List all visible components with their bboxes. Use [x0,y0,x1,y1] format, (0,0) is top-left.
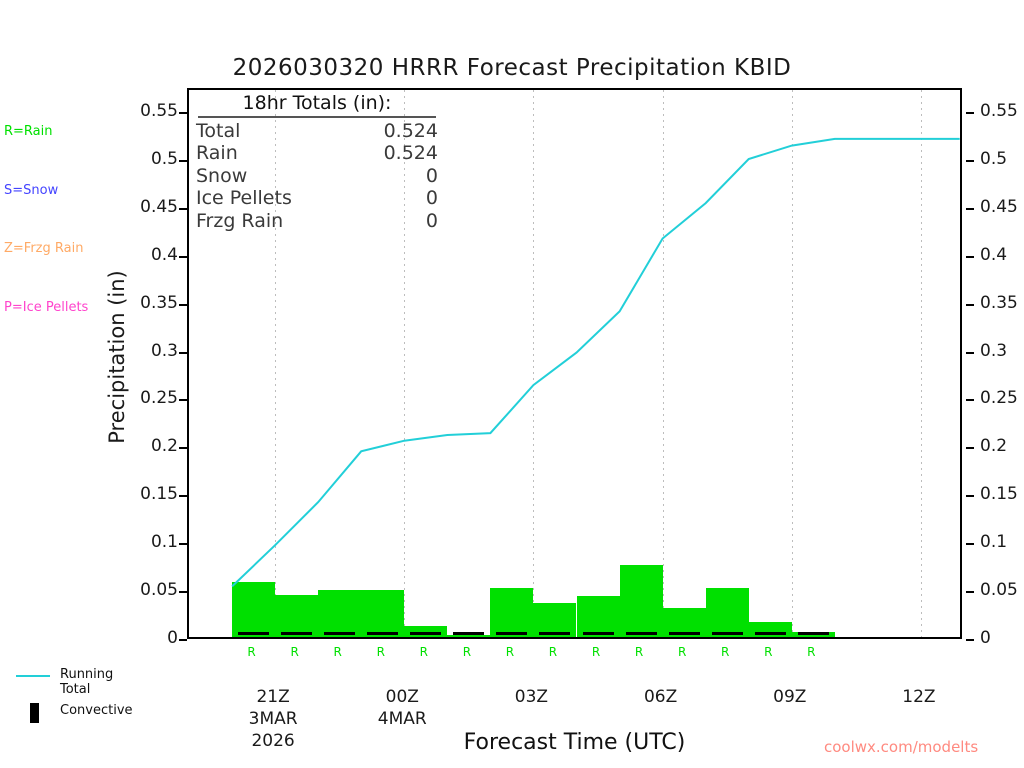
x-tick-label: 03Z [471,686,591,708]
totals-value: 0.524 [384,120,438,143]
precip-type-marker-09Z: R [791,645,831,659]
legend-item-frzg-rain: Z=Frzg Rain [4,239,88,259]
y-tick-right-0.45: 0.45 [980,197,1024,217]
totals-label: Snow [196,165,247,188]
x-tick-00Z: 00Z4MAR [342,686,462,730]
legend-item-ice-pellets: P=Ice Pellets [4,298,88,318]
y-tick-right-0.3: 0.3 [980,341,1024,361]
page-title: 2026030320 HRRR Forecast Precipitation K… [0,55,1024,81]
y-axis-right: 00.050.10.150.20.250.30.350.40.450.50.55 [966,88,1024,639]
chart-page: 2026030320 HRRR Forecast Precipitation K… [0,0,1024,768]
y-tick-mark-right [966,304,974,306]
precip-type-marker-04Z: R [576,645,616,659]
legend-label: Running Total [60,667,113,697]
y-tick-mark-right [966,352,974,354]
y-axis-left: 00.050.10.150.20.250.30.350.40.450.50.55 [130,88,178,639]
precip-type-marker-23Z: R [361,645,401,659]
legend-item-rain: R=Rain [4,122,88,142]
totals-label: Frzg Rain [196,210,283,233]
y-tick-right-0.2: 0.2 [980,436,1024,456]
x-tick-12Z: 12Z [859,686,979,708]
y-tick-right-0.15: 0.15 [980,484,1024,504]
totals-box: 18hr Totals (in): Total0.524 Rain0.524 S… [192,90,442,233]
y-tick-mark-left [179,352,187,354]
totals-label: Total [196,120,240,143]
y-axis-title: Precipitation (in) [105,227,129,487]
y-tick-mark-right [966,591,974,593]
legend-label: Convective [60,703,133,718]
x-tick-label: 00Z [342,686,462,708]
y-tick-mark-right [966,639,974,641]
y-tick-mark-left [179,112,187,114]
bar-swatch-icon [30,703,39,723]
precip-type-legend: R=Rain S=Snow Z=Frzg Rain P=Ice Pellets [4,83,88,356]
x-tick-label: 06Z [601,686,721,708]
y-tick-mark-left [179,447,187,449]
y-tick-mark-left [179,495,187,497]
y-tick-mark-left [179,399,187,401]
x-tick-label: 21Z [213,686,333,708]
y-tick-mark-right [966,256,974,258]
y-tick-right-0.55: 0.55 [980,101,1024,121]
x-tick-03Z: 03Z [471,686,591,708]
y-tick-left-0.1: 0.1 [130,532,178,552]
y-tick-right-0: 0 [980,628,1024,648]
x-tick-09Z: 09Z [730,686,850,708]
y-tick-mark-left [179,208,187,210]
y-tick-mark-left [179,160,187,162]
totals-row-snow: Snow0 [192,165,442,188]
y-tick-mark-right [966,399,974,401]
totals-row-total: Total0.524 [192,120,442,143]
precip-type-marker-22Z: R [318,645,358,659]
y-tick-left-0.35: 0.35 [130,293,178,313]
y-tick-right-0.5: 0.5 [980,149,1024,169]
precip-type-marker-02Z: R [490,645,530,659]
totals-header: 18hr Totals (in): [198,92,436,118]
totals-value: 0 [426,210,438,233]
y-tick-mark-left [179,256,187,258]
y-tick-mark-left [179,543,187,545]
y-tick-mark-right [966,447,974,449]
y-tick-right-0.25: 0.25 [980,388,1024,408]
legend-item-snow: S=Snow [4,181,88,201]
y-tick-left-0.15: 0.15 [130,484,178,504]
precip-type-marker-07Z: R [705,645,745,659]
x-tick-06Z: 06Z [601,686,721,708]
precip-type-marker-20Z: R [232,645,272,659]
totals-value: 0 [426,187,438,210]
y-tick-left-0.4: 0.4 [130,245,178,265]
x-tick-label: 12Z [859,686,979,708]
y-tick-left-0.2: 0.2 [130,436,178,456]
y-tick-left-0.5: 0.5 [130,149,178,169]
precip-type-marker-03Z: R [533,645,573,659]
y-tick-left-0.05: 0.05 [130,580,178,600]
y-tick-right-0.4: 0.4 [980,245,1024,265]
y-tick-mark-right [966,208,974,210]
watermark: coolwx.com/modelts [824,738,978,756]
y-tick-mark-right [966,495,974,497]
y-tick-right-0.1: 0.1 [980,532,1024,552]
totals-value: 0 [426,165,438,188]
precip-type-marker-01Z: R [447,645,487,659]
precip-type-marker-08Z: R [748,645,788,659]
totals-label: Ice Pellets [196,187,292,210]
x-tick-label: 09Z [730,686,850,708]
y-tick-mark-right [966,112,974,114]
y-tick-left-0: 0 [130,628,178,648]
totals-label: Rain [196,142,238,165]
y-tick-left-0.25: 0.25 [130,388,178,408]
y-tick-mark-left [179,591,187,593]
precip-type-marker-21Z: R [275,645,315,659]
line-swatch-icon [16,675,50,677]
x-tick-sublabel: 3MAR [213,708,333,730]
precip-type-marker-05Z: R [619,645,659,659]
y-tick-right-0.35: 0.35 [980,293,1024,313]
precip-type-marker-06Z: R [662,645,702,659]
y-tick-left-0.3: 0.3 [130,341,178,361]
y-tick-mark-right [966,160,974,162]
totals-value: 0.524 [384,142,438,165]
y-tick-mark-right [966,543,974,545]
totals-row-ice-pellets: Ice Pellets0 [192,187,442,210]
y-tick-left-0.55: 0.55 [130,101,178,121]
totals-row-rain: Rain0.524 [192,142,442,165]
precip-type-marker-00Z: R [404,645,444,659]
y-tick-left-0.45: 0.45 [130,197,178,217]
y-tick-mark-left [179,304,187,306]
x-tick-sublabel: 4MAR [342,708,462,730]
totals-row-frzg-rain: Frzg Rain0 [192,210,442,233]
y-tick-mark-left [179,639,187,641]
y-tick-right-0.05: 0.05 [980,580,1024,600]
